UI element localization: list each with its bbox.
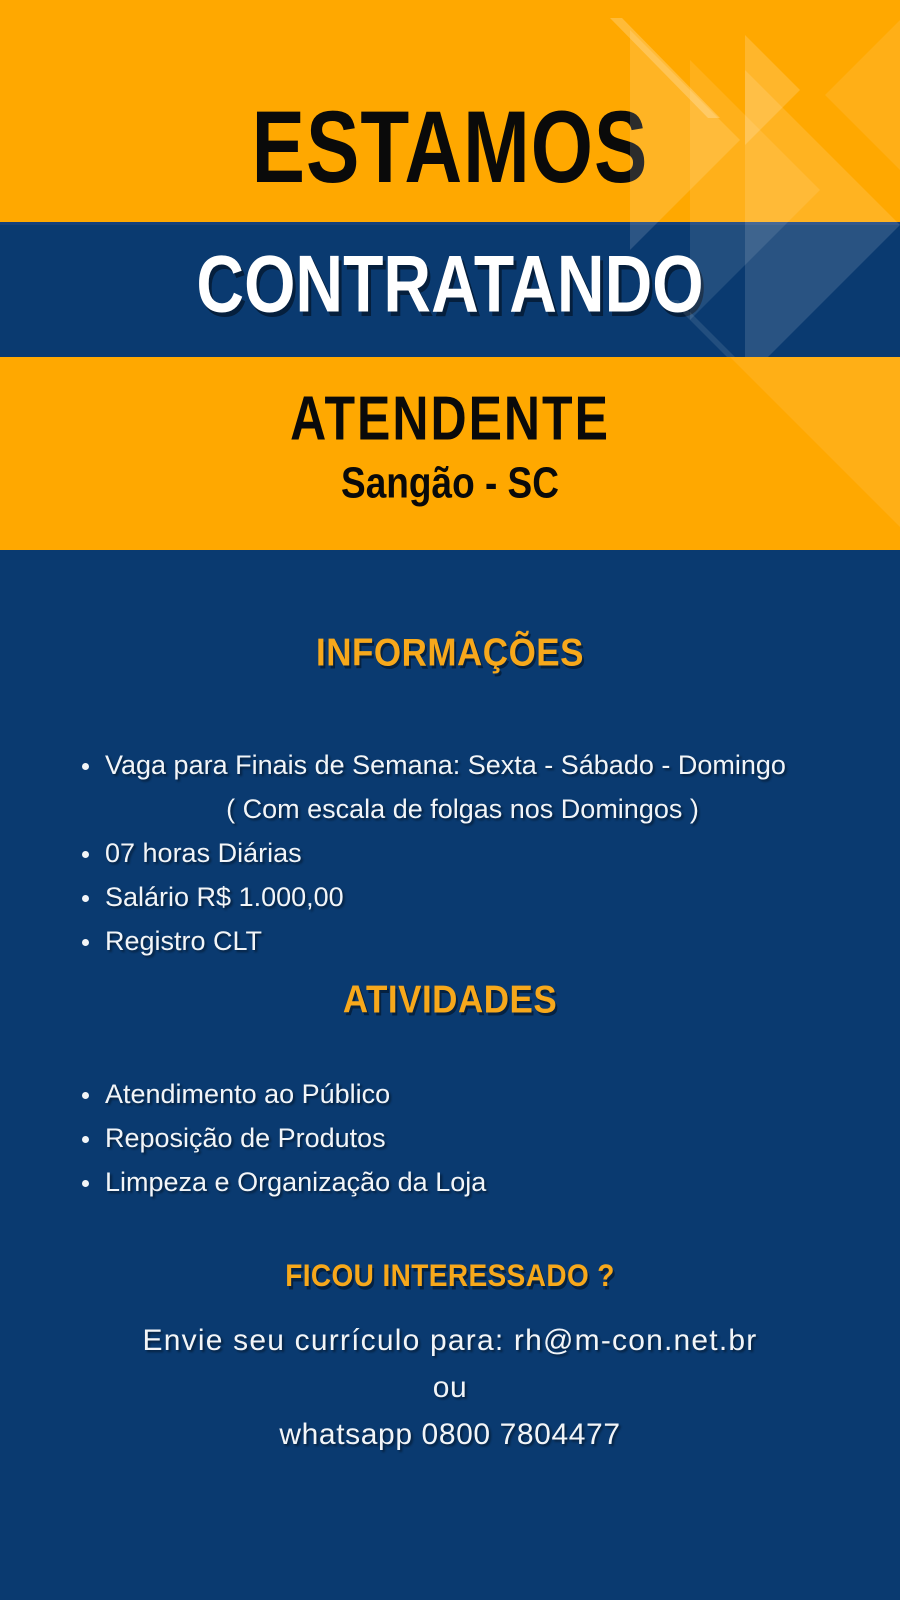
list-item-text: 07 horas Diárias: [105, 838, 302, 868]
list-item-text: Registro CLT: [105, 926, 262, 956]
list-item: Salário R$ 1.000,00: [78, 875, 880, 919]
list-item-text: Reposição de Produtos: [105, 1123, 386, 1153]
role-title: ATENDENTE: [0, 387, 900, 450]
job-posting-poster: ESTAMOS CONTRATANDO ATENDENTE Sangão - S…: [0, 0, 900, 1600]
contact-section: FICOU INTERESSADO ? Envie seu currículo …: [0, 1262, 900, 1458]
information-list: Vaga para Finais de Semana: Sexta - Sába…: [78, 743, 880, 963]
contact-email-line[interactable]: Envie seu currículo para: rh@m-con.net.b…: [0, 1317, 900, 1364]
list-item-note: ( Com escala de folgas nos Domingos ): [138, 787, 760, 831]
header-band-contratando: CONTRATANDO: [0, 222, 900, 357]
list-item-text: Limpeza e Organização da Loja: [105, 1167, 486, 1197]
contact-or-separator: ou: [0, 1364, 900, 1411]
list-item: Limpeza e Organização da Loja: [78, 1160, 880, 1204]
headline-contratando: CONTRATANDO: [0, 243, 900, 324]
list-item: Atendimento ao Público: [78, 1072, 880, 1116]
header-band-estamos: ESTAMOS: [0, 0, 900, 222]
headline-estamos: ESTAMOS: [0, 96, 900, 198]
section-heading-atividades: ATIVIDADES: [0, 980, 900, 1019]
list-item-text: Atendimento ao Público: [105, 1079, 390, 1109]
list-item-text: Vaga para Finais de Semana: Sexta - Sába…: [105, 750, 786, 780]
list-item-text: ( Com escala de folgas nos Domingos ): [226, 794, 699, 824]
contact-whatsapp-line[interactable]: whatsapp 0800 7804477: [0, 1411, 900, 1458]
list-item: Vaga para Finais de Semana: Sexta - Sába…: [78, 743, 880, 787]
list-item: Reposição de Produtos: [78, 1116, 880, 1160]
role-band: ATENDENTE Sangão - SC: [0, 357, 900, 550]
section-heading-informacoes: INFORMAÇÕES: [0, 633, 900, 672]
poster-body: INFORMAÇÕES Vaga para Finais de Semana: …: [0, 550, 900, 1600]
list-item: 07 horas Diárias: [78, 831, 880, 875]
list-item: Registro CLT: [78, 919, 880, 963]
activities-list: Atendimento ao Público Reposição de Prod…: [78, 1072, 880, 1204]
contact-cta: FICOU INTERESSADO ?: [0, 1260, 900, 1291]
list-item-text: Salário R$ 1.000,00: [105, 882, 344, 912]
role-location: Sangão - SC: [0, 461, 900, 505]
role-band-shine: [690, 357, 900, 550]
